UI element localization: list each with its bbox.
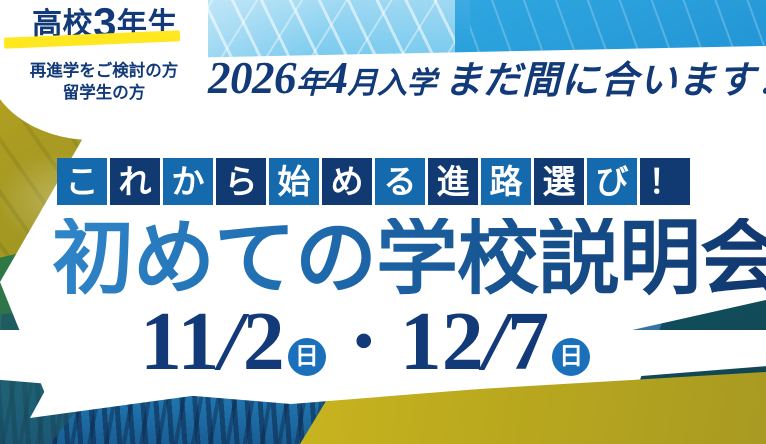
- date-1-slash: /: [219, 300, 242, 384]
- catchcopy-tile: か: [163, 158, 213, 205]
- date-2-slash: /: [484, 300, 507, 384]
- date-2-weekday-badge: 日: [552, 338, 590, 376]
- date-1-weekday-badge: 日: [288, 338, 326, 376]
- enrollment-month-unit: 月: [348, 67, 378, 100]
- catchcopy-tile: め: [322, 158, 372, 205]
- target-audience-badge-content: 高校3年生 再進学をご検討の方 留学生の方: [0, 0, 208, 140]
- enrollment-month: 4: [326, 53, 348, 103]
- enrollment-word: 入学: [377, 67, 436, 100]
- badge-subtext: 再進学をご検討の方 留学生の方: [0, 60, 208, 105]
- catchcopy-tile: ら: [216, 158, 266, 205]
- enrollment-tail-text: まだ間に合います！: [444, 60, 766, 102]
- school-info-session-banner: 高校3年生 再進学をご検討の方 留学生の方 2026年4月入学まだ間に合います！…: [0, 0, 766, 444]
- target-audience-badge: 高校3年生 再進学をご検討の方 留学生の方: [0, 0, 208, 140]
- badge-subtext-line-2: 留学生の方: [0, 82, 208, 104]
- catchcopy-tile: 路: [481, 158, 531, 205]
- date-separator: ・: [334, 314, 394, 374]
- catchcopy-tile: び: [587, 158, 637, 205]
- badge-subtext-line-1: 再進学をご検討の方: [0, 60, 208, 82]
- enrollment-year-unit: 年: [296, 67, 326, 100]
- catchcopy-tile: れ: [110, 158, 160, 205]
- catchcopy-tile: 進: [428, 158, 478, 205]
- catchcopy-tile: 始: [269, 158, 319, 205]
- catchcopy-tile: ！: [640, 158, 690, 205]
- catchcopy-tile: 選: [534, 158, 584, 205]
- enrollment-headline: 2026年4月入学まだ間に合います！: [208, 56, 766, 101]
- date-1-day: 2: [243, 300, 285, 384]
- date-1-month: 11: [140, 300, 219, 384]
- badge-yellow-underline: [4, 30, 180, 48]
- catchcopy-tile-row: こ れ か ら 始 め る 進 路 選 び ！: [57, 158, 690, 205]
- catchcopy-tile: る: [375, 158, 425, 205]
- date-2-day: 7: [507, 300, 549, 384]
- main-title: 初めての学校説明会: [52, 218, 766, 300]
- date-2-month: 12: [400, 300, 484, 384]
- enrollment-year: 2026: [208, 53, 296, 103]
- catchcopy-tile: こ: [57, 158, 107, 205]
- event-dates: 11/2 日 ・ 12/7 日: [140, 300, 592, 384]
